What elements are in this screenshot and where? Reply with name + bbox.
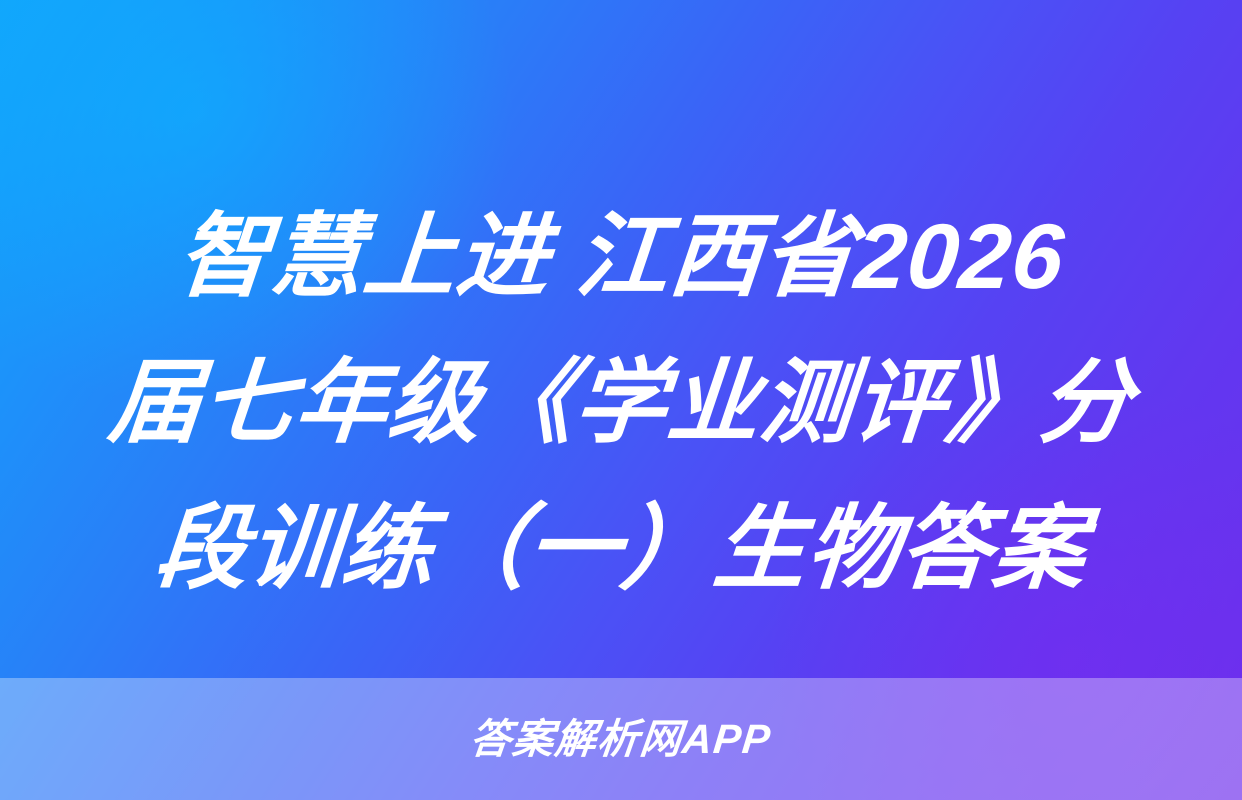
- watermark-text: 答案解析网APP: [468, 719, 774, 760]
- title-line-1: 智慧上进 江西省2026: [72, 184, 1171, 330]
- title-line-2: 届七年级《学业测评》分: [72, 330, 1171, 476]
- title-block: 智慧上进 江西省2026 届七年级《学业测评》分 段训练（一）生物答案: [0, 168, 1242, 638]
- poster-canvas: 智慧上进 江西省2026 届七年级《学业测评》分 段训练（一）生物答案 答案解析…: [0, 0, 1242, 800]
- title-line-3: 段训练（一）生物答案: [72, 476, 1171, 622]
- footer-watermark-band: 答案解析网APP: [0, 678, 1242, 800]
